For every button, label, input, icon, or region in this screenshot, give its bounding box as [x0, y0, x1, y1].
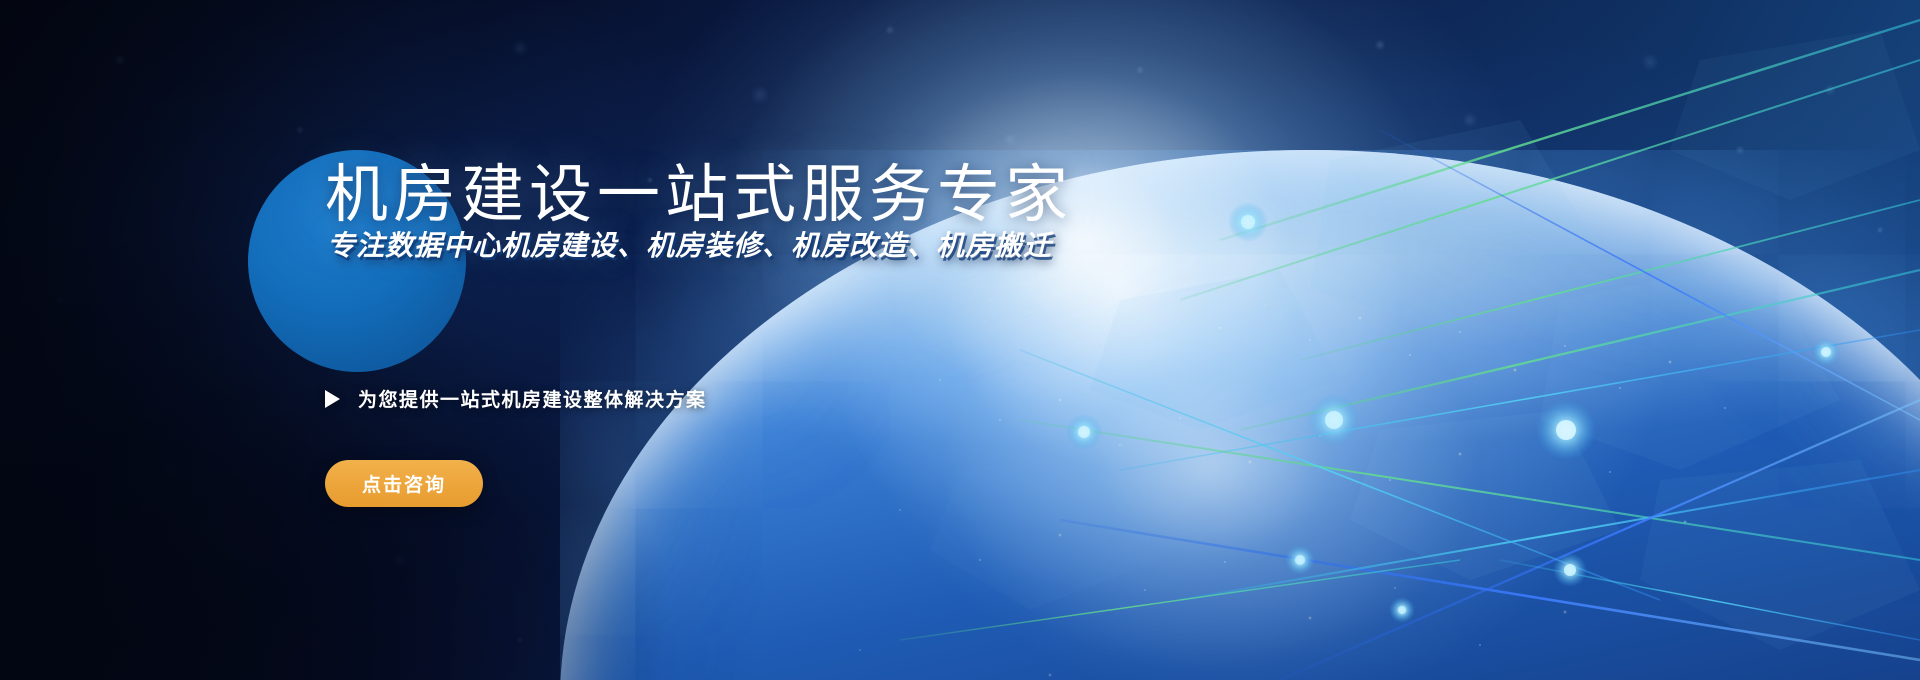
play-triangle-icon — [325, 390, 340, 408]
hero-subheadline: 专注数据中心机房建设、机房装修、机房改造、机房搬迁 — [327, 232, 1052, 260]
consult-button[interactable]: 点击咨询 — [325, 460, 483, 507]
page-title: 机房建设一站式服务专家 — [325, 164, 1073, 227]
hero-tagline: 为您提供一站式机房建设整体解决方案 — [325, 385, 707, 412]
hero-tagline-text: 为您提供一站式机房建设整体解决方案 — [358, 385, 707, 412]
hero-banner: 机房建设一站式服务专家 专注数据中心机房建设、机房装修、机房改造、机房搬迁 为您… — [0, 0, 1920, 680]
